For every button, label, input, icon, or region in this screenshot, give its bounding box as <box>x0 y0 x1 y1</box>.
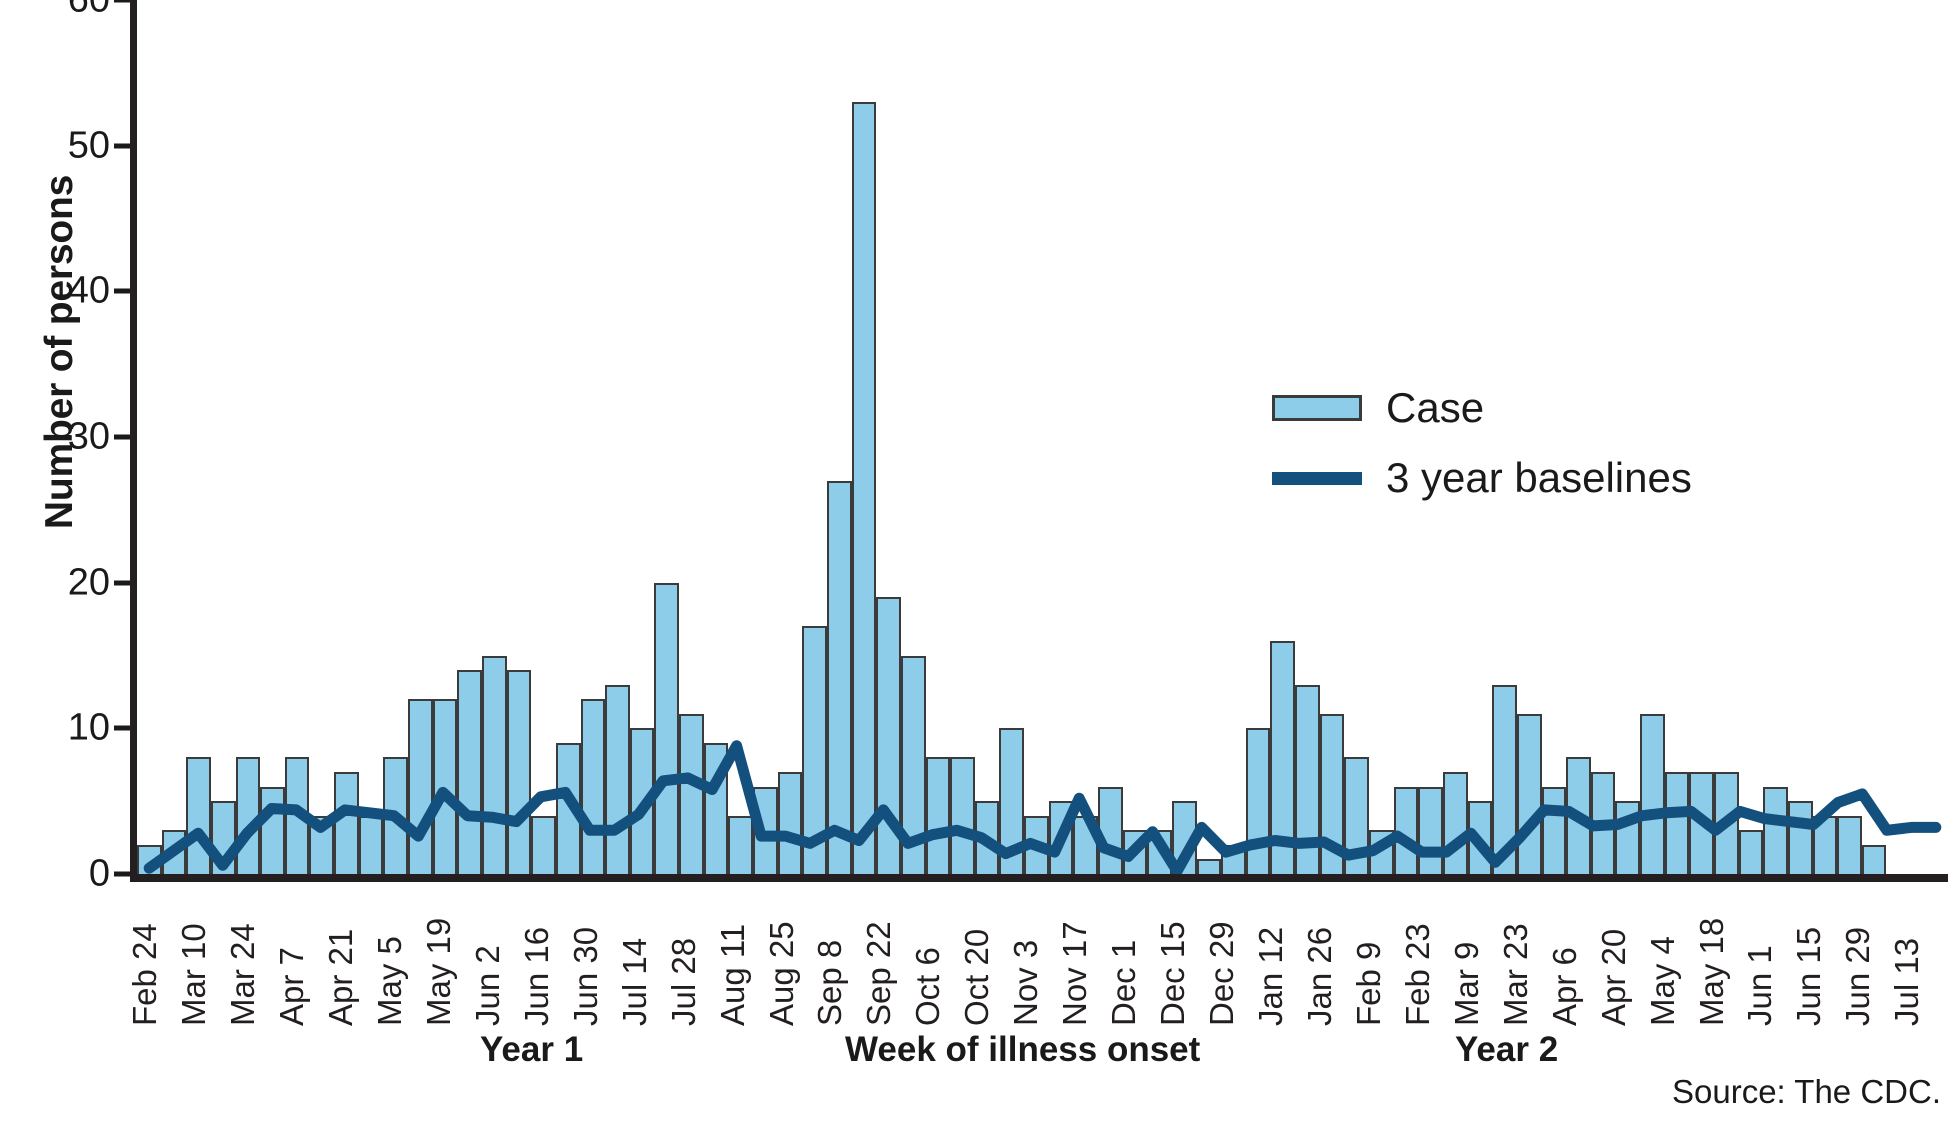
x-tick-label: Jul 14 <box>618 938 651 1026</box>
x-tick: Nov 3 <box>1018 886 1042 1026</box>
bar[interactable] <box>1172 801 1197 874</box>
bar[interactable] <box>1763 787 1788 874</box>
x-tick: Sep 22 <box>871 886 895 1026</box>
bar[interactable] <box>1344 757 1369 874</box>
x-tick: Sep 8 <box>822 886 846 1026</box>
x-tick: Oct 20 <box>969 886 993 1026</box>
x-tick-label: May 5 <box>373 936 406 1026</box>
x-tick-label: Jun 29 <box>1841 927 1874 1026</box>
x-tick: Mar 10 <box>186 886 210 1026</box>
x-tick-label: Oct 6 <box>911 947 944 1026</box>
x-tick: Jul 14 <box>627 886 651 1026</box>
y-tick-mark <box>114 143 130 148</box>
bar[interactable] <box>1665 772 1690 874</box>
bar[interactable] <box>753 787 778 874</box>
x-tick: Feb 23 <box>1410 886 1434 1026</box>
x-tick-label: Mar 9 <box>1450 942 1483 1026</box>
bar[interactable] <box>1542 787 1567 874</box>
bar[interactable] <box>433 699 458 874</box>
bar[interactable] <box>1024 816 1049 874</box>
legend-item-case: Case <box>1272 380 1742 436</box>
x-tick: Feb 9 <box>1361 886 1385 1026</box>
bar[interactable] <box>1714 772 1739 874</box>
x-tick-label: Aug 25 <box>765 921 798 1026</box>
bar[interactable] <box>1615 801 1640 874</box>
period-label-year-1: Year 1 <box>480 1030 583 1070</box>
x-axis-tick-labels: Feb 24Mar 10Mar 24Apr 7Apr 21May 5May 19… <box>137 886 1948 1026</box>
bar[interactable] <box>679 714 704 874</box>
y-tick-label: 0 <box>40 853 110 896</box>
bar[interactable] <box>654 583 679 874</box>
x-axis-line <box>130 874 1948 882</box>
bar[interactable] <box>1049 801 1074 874</box>
x-tick-label: Dec 29 <box>1205 921 1238 1026</box>
bar[interactable] <box>211 801 236 874</box>
bar[interactable] <box>999 728 1024 874</box>
legend-item-baseline: 3 year baselines <box>1272 450 1742 506</box>
x-tick-label: Feb 9 <box>1352 942 1385 1026</box>
bar[interactable] <box>457 670 482 874</box>
bar[interactable] <box>728 816 753 874</box>
x-tick: Nov 17 <box>1067 886 1091 1026</box>
y-tick-label: 40 <box>40 270 110 313</box>
x-tick: Jun 15 <box>1801 886 1825 1026</box>
x-tick-label: Apr 20 <box>1597 929 1630 1026</box>
bar[interactable] <box>1147 830 1172 874</box>
bar[interactable] <box>1862 845 1887 874</box>
bar[interactable] <box>1443 772 1468 874</box>
y-tick-label: 50 <box>40 124 110 167</box>
bar[interactable] <box>1837 816 1862 874</box>
legend-label-case: Case <box>1386 384 1484 432</box>
x-tick-label: Jan 12 <box>1254 927 1287 1026</box>
x-tick-label: Mar 23 <box>1499 923 1532 1026</box>
bar[interactable] <box>926 757 951 874</box>
bar[interactable] <box>1221 845 1246 874</box>
x-tick-label: Sep 22 <box>862 921 895 1026</box>
bar[interactable] <box>876 597 901 874</box>
x-tick: Jan 12 <box>1263 886 1287 1026</box>
x-tick-label: Oct 20 <box>960 929 993 1026</box>
x-tick-label: Jun 30 <box>569 927 602 1026</box>
bar[interactable] <box>1418 787 1443 874</box>
bar[interactable] <box>236 757 261 874</box>
x-tick: Dec 1 <box>1116 886 1140 1026</box>
y-tick-mark <box>114 726 130 731</box>
y-tick-mark <box>114 580 130 585</box>
x-axis-title: Week of illness onset <box>845 1030 1200 1070</box>
x-tick: Mar 23 <box>1508 886 1532 1026</box>
x-tick-label: Jul 13 <box>1890 938 1923 1026</box>
x-tick-label: Jul 28 <box>667 938 700 1026</box>
x-tick: Jun 1 <box>1752 886 1776 1026</box>
x-tick: May 18 <box>1704 886 1728 1026</box>
y-axis-tick-labels: 0102030405060 <box>30 0 110 880</box>
x-tick-label: Apr 7 <box>275 947 308 1026</box>
bar[interactable] <box>1369 830 1394 874</box>
x-tick: Jun 2 <box>480 886 504 1026</box>
bar[interactable] <box>162 830 187 874</box>
bar[interactable] <box>309 816 334 874</box>
x-tick: Apr 20 <box>1606 886 1630 1026</box>
y-tick-mark <box>114 0 130 3</box>
bar[interactable] <box>507 670 532 874</box>
bar[interactable] <box>1689 772 1714 874</box>
bar[interactable] <box>482 656 507 875</box>
period-label-year-2: Year 2 <box>1455 1030 1558 1070</box>
bar[interactable] <box>975 801 1000 874</box>
chart-legend: Case 3 year baselines <box>1272 380 1742 506</box>
bar[interactable] <box>1468 801 1493 874</box>
x-tick-label: Jun 1 <box>1743 945 1776 1026</box>
x-tick-label: Mar 10 <box>177 923 210 1026</box>
x-tick: May 4 <box>1655 886 1679 1026</box>
x-tick: Jan 26 <box>1312 886 1336 1026</box>
x-tick-label: Mar 24 <box>226 923 259 1026</box>
bar[interactable] <box>901 656 926 875</box>
bar[interactable] <box>408 699 433 874</box>
bar[interactable] <box>1098 787 1123 874</box>
x-tick-label: Nov 3 <box>1009 940 1042 1026</box>
x-tick: Aug 25 <box>774 886 798 1026</box>
bar[interactable] <box>260 787 285 874</box>
bar[interactable] <box>1591 772 1616 874</box>
y-tick-label: 60 <box>40 0 110 22</box>
bar[interactable] <box>1270 641 1295 874</box>
bar[interactable] <box>1394 787 1419 874</box>
bar[interactable] <box>605 685 630 874</box>
bar[interactable] <box>1073 816 1098 874</box>
x-tick: Jul 13 <box>1899 886 1923 1026</box>
x-tick-label: May 19 <box>422 918 455 1026</box>
x-tick-label: Jun 2 <box>471 945 504 1026</box>
bar[interactable] <box>556 743 581 874</box>
bar[interactable] <box>802 626 827 874</box>
x-tick: Jul 28 <box>676 886 700 1026</box>
x-tick: Mar 9 <box>1459 886 1483 1026</box>
x-tick: Dec 29 <box>1214 886 1238 1026</box>
bar[interactable] <box>1246 728 1271 874</box>
x-tick-label: Jun 15 <box>1792 927 1825 1026</box>
bar[interactable] <box>1739 830 1764 874</box>
x-tick-label: Nov 17 <box>1058 921 1091 1026</box>
bar[interactable] <box>950 757 975 874</box>
x-tick: May 19 <box>431 886 455 1026</box>
x-tick: Jun 30 <box>578 886 602 1026</box>
legend-bar-swatch-icon <box>1272 395 1362 421</box>
x-tick: Dec 15 <box>1165 886 1189 1026</box>
x-tick: May 5 <box>382 886 406 1026</box>
bar[interactable] <box>383 757 408 874</box>
bar[interactable] <box>630 728 655 874</box>
x-tick: Jun 29 <box>1850 886 1874 1026</box>
bar[interactable] <box>359 816 384 874</box>
bar[interactable] <box>1566 757 1591 874</box>
x-tick-label: Jan 26 <box>1303 927 1336 1026</box>
x-tick-label: Sep 8 <box>813 940 846 1026</box>
bar[interactable] <box>704 743 729 874</box>
y-axis-line <box>130 0 137 880</box>
bar[interactable] <box>1320 714 1345 874</box>
y-tick-mark <box>114 435 130 440</box>
bar[interactable] <box>1197 859 1222 874</box>
x-tick-label: Jun 16 <box>520 927 553 1026</box>
bar[interactable] <box>852 102 877 874</box>
x-tick: Jun 16 <box>529 886 553 1026</box>
x-tick-label: May 4 <box>1646 936 1679 1026</box>
x-tick: Oct 6 <box>920 886 944 1026</box>
x-tick-label: May 18 <box>1695 918 1728 1026</box>
x-tick-label: Dec 1 <box>1107 940 1140 1026</box>
x-tick-label: Feb 24 <box>128 923 161 1026</box>
bar[interactable] <box>285 757 310 874</box>
bar[interactable] <box>1295 685 1320 874</box>
bar[interactable] <box>827 481 852 874</box>
legend-label-baseline: 3 year baselines <box>1386 454 1692 502</box>
bar[interactable] <box>1813 816 1838 874</box>
legend-line-swatch-icon <box>1272 472 1362 485</box>
x-tick-label: Apr 21 <box>324 929 357 1026</box>
bar[interactable] <box>581 699 606 874</box>
bar[interactable] <box>1788 801 1813 874</box>
bar[interactable] <box>1492 685 1517 874</box>
x-tick: Feb 24 <box>137 886 161 1026</box>
x-tick: Apr 21 <box>333 886 357 1026</box>
epi-curve-chart: Number of persons 0102030405060 Feb 24Ma… <box>0 0 1955 1121</box>
x-tick: Mar 24 <box>235 886 259 1026</box>
y-tick-label: 20 <box>40 561 110 604</box>
x-tick-label: Feb 23 <box>1401 923 1434 1026</box>
bar[interactable] <box>186 757 211 874</box>
x-tick-label: Aug 11 <box>716 924 749 1026</box>
y-tick-mark <box>114 289 130 294</box>
x-tick: Apr 6 <box>1557 886 1581 1026</box>
x-tick-label: Dec 15 <box>1156 921 1189 1026</box>
source-note: Source: The CDC. <box>1672 1073 1941 1111</box>
x-tick: Aug 11 <box>725 886 749 1026</box>
y-tick-label: 10 <box>40 707 110 750</box>
x-tick: Apr 7 <box>284 886 308 1026</box>
bar[interactable] <box>334 772 359 874</box>
bar[interactable] <box>1640 714 1665 874</box>
x-tick-label: Apr 6 <box>1548 947 1581 1026</box>
bar[interactable] <box>778 772 803 874</box>
bar[interactable] <box>531 816 556 874</box>
bar[interactable] <box>137 845 162 874</box>
bar[interactable] <box>1123 830 1148 874</box>
y-tick-label: 30 <box>40 416 110 459</box>
y-tick-mark <box>114 872 130 877</box>
bar[interactable] <box>1517 714 1542 874</box>
